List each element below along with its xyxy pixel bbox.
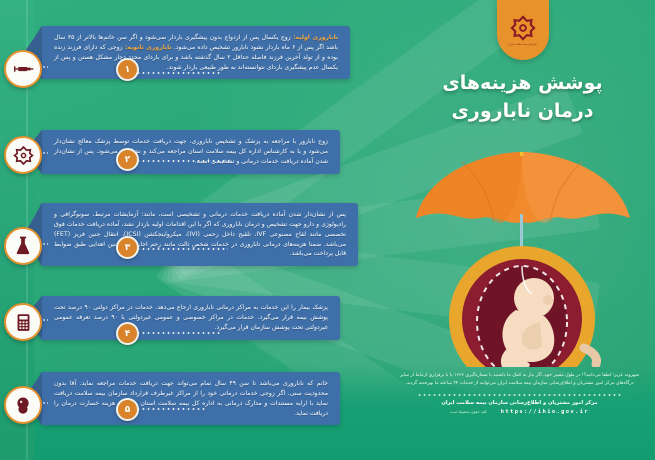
highlight-term: ناباروری ثانویه: bbox=[125, 44, 172, 51]
flask-icon-circle[interactable] bbox=[4, 227, 42, 265]
step-panel-3-text: پس از نشان‌دار شدن آماده دریافت خدمات در… bbox=[54, 210, 346, 259]
calculator-icon bbox=[14, 313, 33, 332]
syringe-icon-circle[interactable] bbox=[4, 50, 42, 88]
step-badge-2[interactable]: ۲ bbox=[116, 148, 139, 171]
step-panel-5-plate: خانم که ناباروری می‌باشد تا سن ۴۹ سال تم… bbox=[40, 372, 340, 425]
leader-dots-2 bbox=[136, 160, 232, 162]
step-panel-4-text: پزشک بیمار را این خدمات به مراکز درمانی … bbox=[54, 303, 328, 333]
page-title-line2: درمان ناباروری bbox=[390, 98, 655, 126]
calculator-icon-circle[interactable] bbox=[4, 303, 42, 341]
footer-divider bbox=[417, 394, 622, 396]
step-panel-2-text: زوج نابارور با مراجعه به پزشک و تشخیص نا… bbox=[54, 137, 328, 167]
step-panel-2-plate: زوج نابارور با مراجعه به پزشک و تشخیص نا… bbox=[40, 130, 340, 174]
header: سازمان بیمه سلامت ایران پوشش هزینه‌های د… bbox=[390, 0, 655, 160]
footer-copyright: کلیه حقوق محفوظ است bbox=[450, 410, 487, 414]
hand-icon bbox=[584, 348, 597, 364]
emblem-icon-circle[interactable] bbox=[4, 136, 42, 174]
page-title: پوشش هزینه‌های درمان ناباروری bbox=[390, 70, 655, 125]
step-badge-4[interactable]: ۴ bbox=[116, 322, 139, 345]
syringe-icon bbox=[12, 58, 34, 80]
footer-url[interactable]: https://ihio.gov.ir bbox=[501, 409, 589, 415]
umbrella-baby-illustration bbox=[398, 152, 648, 367]
highlight-term: ناباروری اولیه: bbox=[293, 34, 338, 41]
step-panel-5: خانم که ناباروری می‌باشد تا سن ۴۹ سال تم… bbox=[40, 372, 340, 425]
footer-body: شهروند عزیز؛ لطفا می‌دانید؟! در طول مسیر… bbox=[392, 372, 647, 389]
leader-dots-4 bbox=[136, 332, 222, 334]
leader-dots-5 bbox=[136, 408, 206, 410]
step-badge-5[interactable]: ۵ bbox=[116, 398, 139, 421]
stamp-icon-circle[interactable] bbox=[4, 386, 42, 424]
step-panel-3: پس از نشان‌دار شدن آماده دریافت خدمات در… bbox=[40, 203, 358, 266]
organization-logo: سازمان بیمه سلامت ایران bbox=[497, 0, 549, 60]
logo-caption: سازمان بیمه سلامت ایران bbox=[508, 43, 536, 46]
emblem-icon bbox=[13, 145, 34, 166]
leader-dots-3 bbox=[136, 248, 228, 250]
infographic-root: سازمان بیمه سلامت ایران پوشش هزینه‌های د… bbox=[0, 0, 655, 460]
flask-icon bbox=[13, 236, 33, 256]
step-panel-3-plate: پس از نشان‌دار شدن آماده دریافت خدمات در… bbox=[40, 203, 358, 266]
emblem-icon bbox=[510, 15, 536, 41]
step-badge-1[interactable]: ۱ bbox=[116, 58, 139, 81]
page-title-line1: پوشش هزینه‌های bbox=[390, 70, 655, 98]
step-panel-2: زوج نابارور با مراجعه به پزشک و تشخیص نا… bbox=[40, 130, 340, 174]
stamp-icon bbox=[13, 395, 33, 415]
leader-dots-1 bbox=[136, 72, 222, 74]
step-badge-3[interactable]: ۳ bbox=[116, 236, 139, 259]
footer: شهروند عزیز؛ لطفا می‌دانید؟! در طول مسیر… bbox=[392, 372, 647, 415]
step-panel-1-text: ناباروری اولیه: زوج یکسال پس از ازدواج ب… bbox=[54, 33, 338, 72]
footer-organization: مرکز امور مشتریان و اطلاع‌رسانی سازمان ب… bbox=[392, 400, 647, 406]
step-panel-5-text: خانم که ناباروری می‌باشد تا سن ۴۹ سال تم… bbox=[54, 379, 328, 418]
